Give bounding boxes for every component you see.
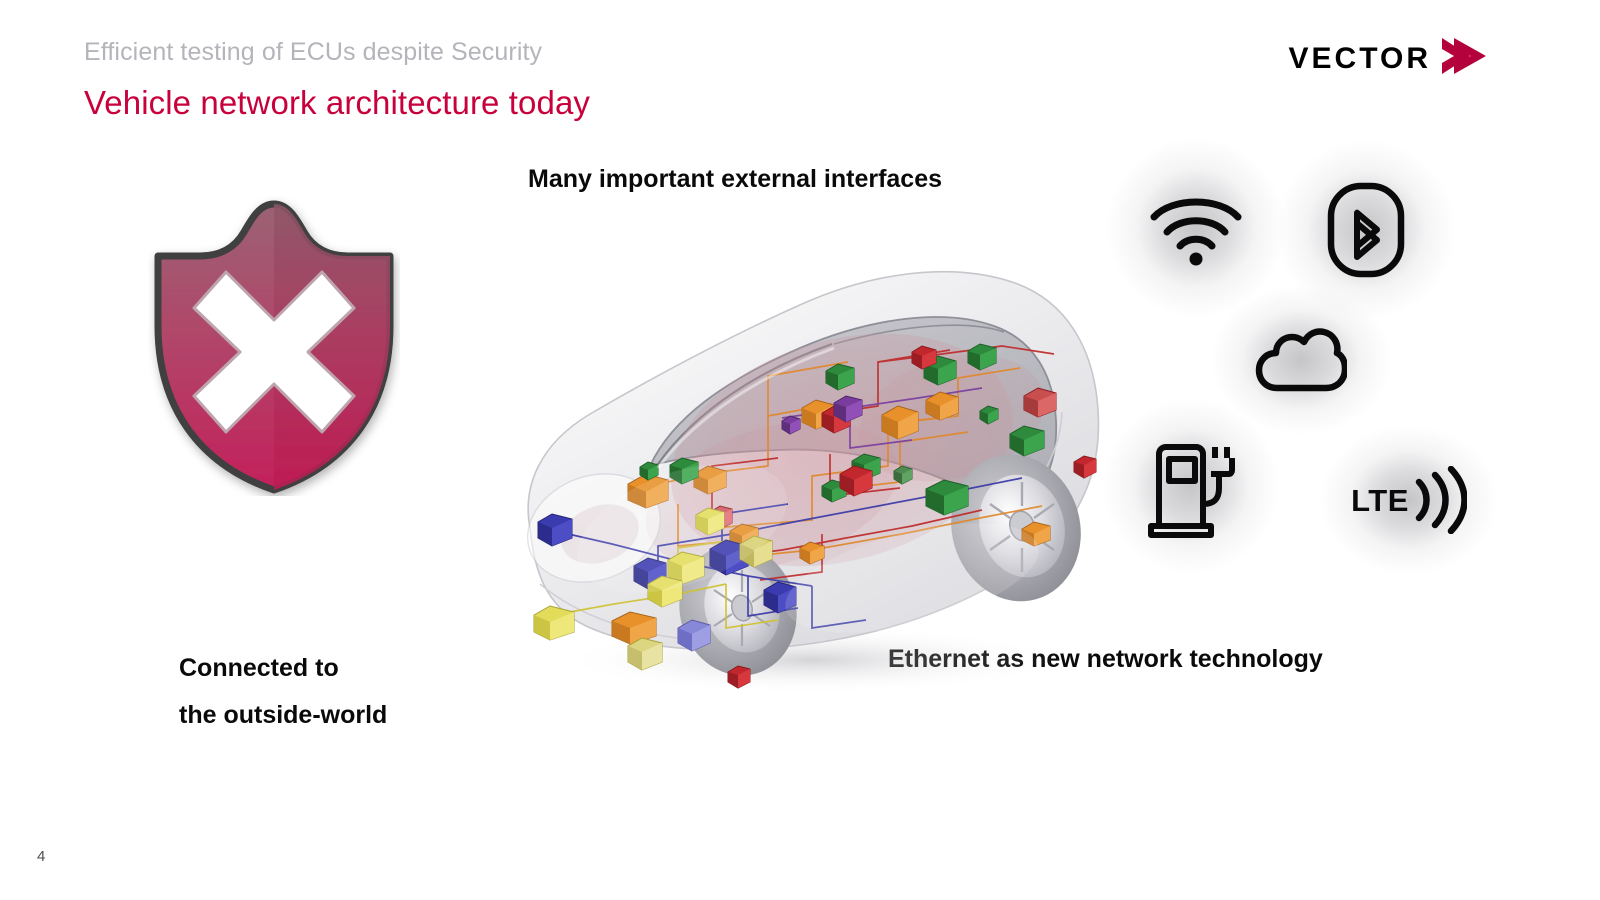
- ev-charging-station-icon: [1136, 422, 1246, 550]
- slide-eyebrow: Efficient testing of ECUs despite Securi…: [84, 38, 542, 67]
- caption-connected: Connected to the outside-world: [179, 645, 519, 739]
- logo-wordmark: VECTOR: [1289, 44, 1431, 74]
- vehicle-network-illustration: [482, 228, 1122, 698]
- vector-logo: VECTOR: [1289, 36, 1488, 81]
- lte-icon: LTE: [1340, 452, 1478, 548]
- bluetooth-icon: [1310, 168, 1422, 292]
- page-title: Vehicle network architecture today: [84, 84, 590, 122]
- shield-x-icon: [148, 196, 400, 496]
- wifi-icon: [1134, 172, 1258, 284]
- lte-label: LTE: [1351, 485, 1409, 516]
- caption-connected-line2: the outside-world: [179, 692, 519, 739]
- page-number: 4: [37, 848, 45, 865]
- slide-canvas: Efficient testing of ECUs despite Securi…: [0, 0, 1600, 900]
- cloud-icon: [1242, 312, 1360, 408]
- signal-arcs-icon: [1411, 466, 1467, 534]
- caption-connected-line1: Connected to: [179, 645, 519, 692]
- chevron-right-icon: [1440, 36, 1488, 81]
- caption-external-interfaces: Many important external interfaces: [528, 165, 942, 194]
